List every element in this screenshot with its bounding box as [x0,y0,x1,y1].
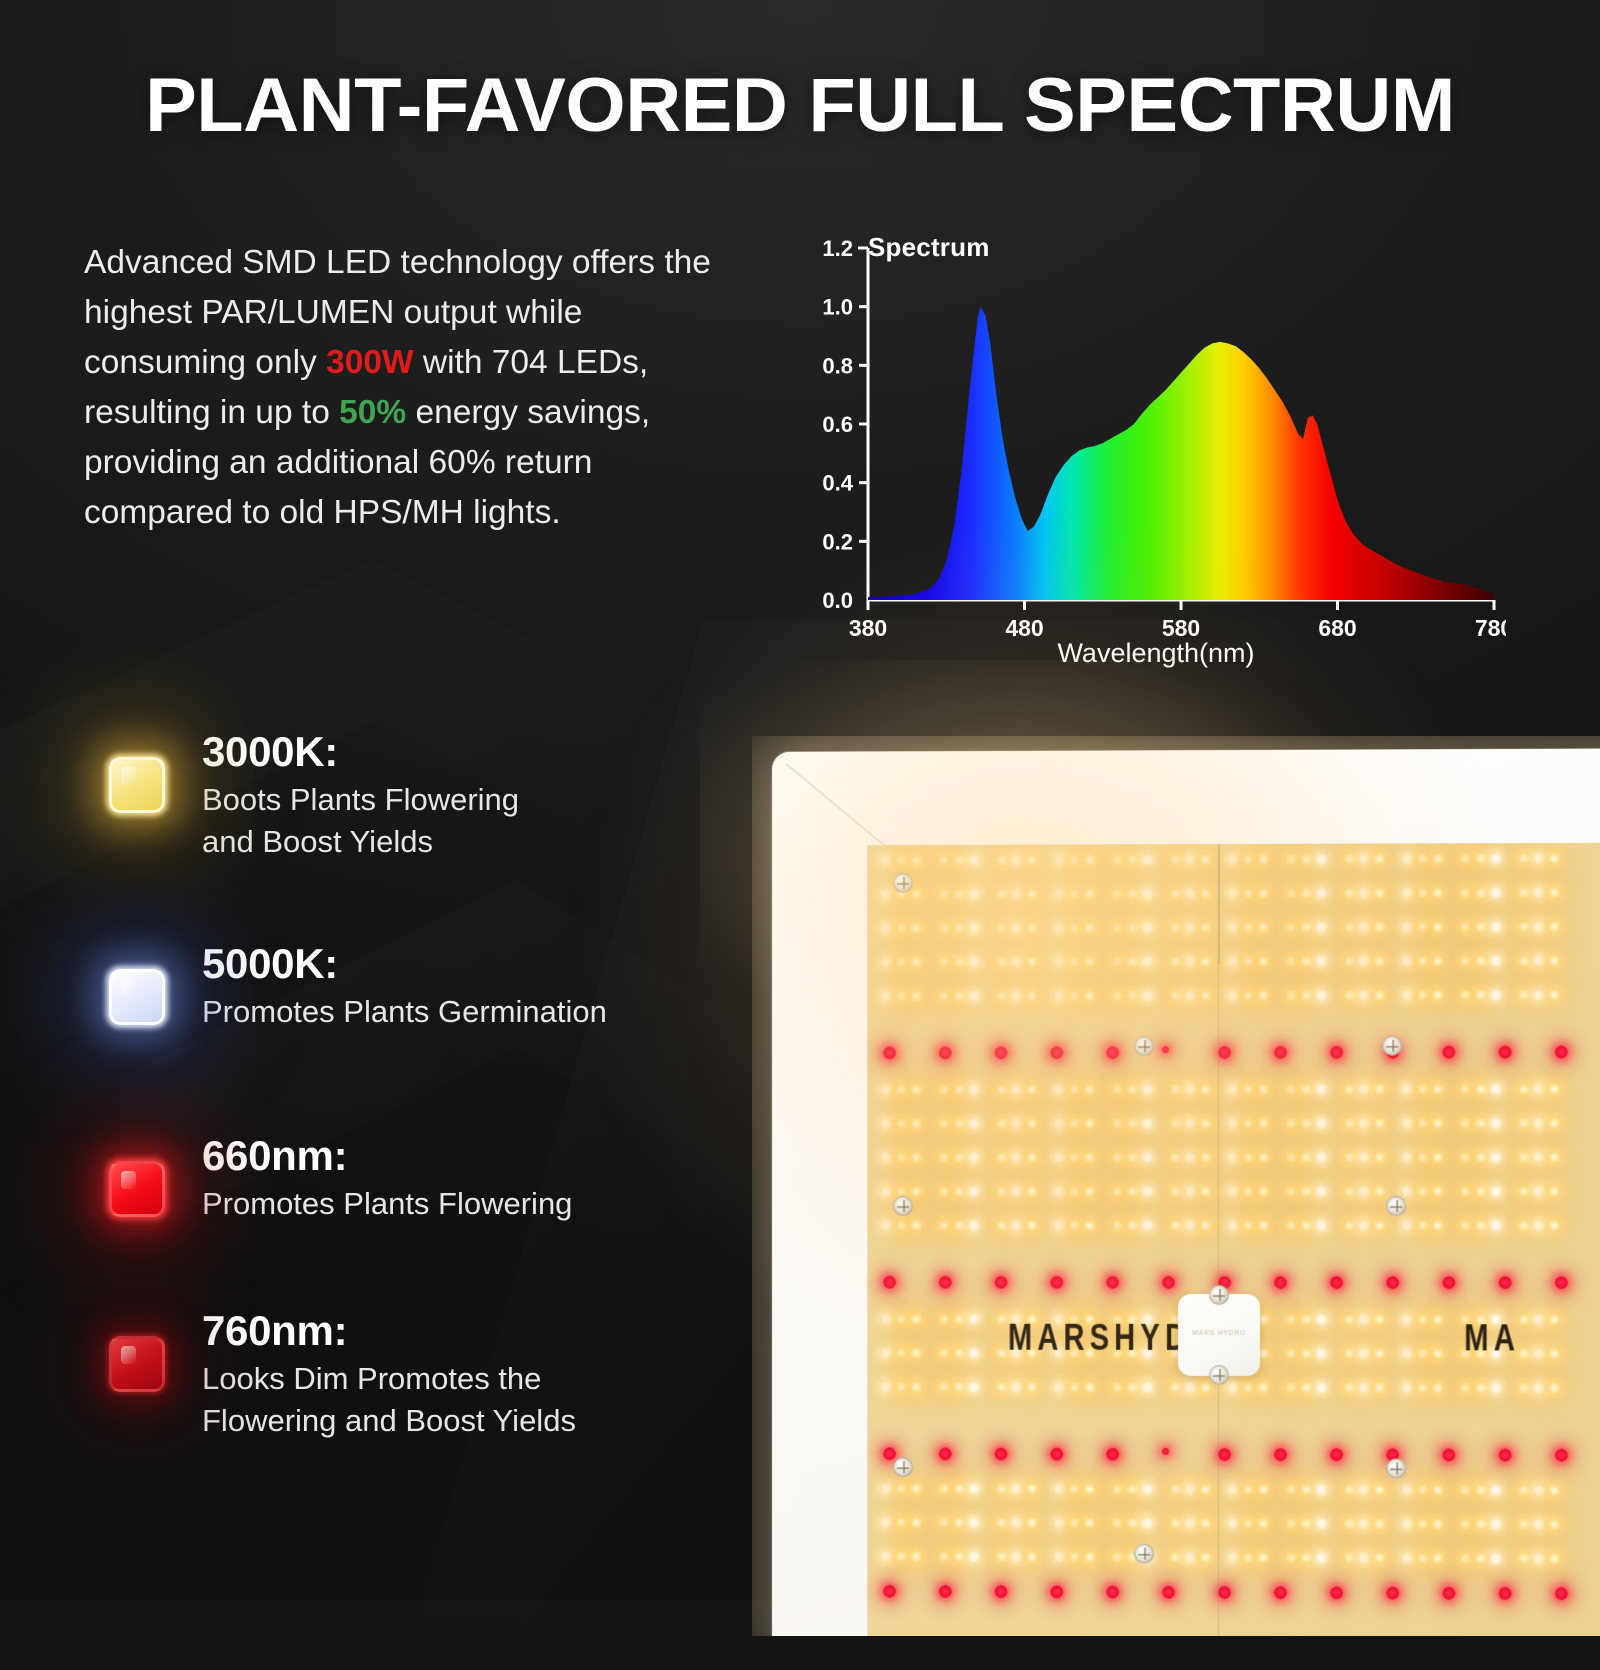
legend-desc-760nm-line2: Flowering and Boost Yields [202,1400,784,1442]
spectrum-area-path [868,307,1494,600]
screw-icon [1386,1196,1406,1216]
led-grow-light-panel: MARSHYDRO MA MARS HYDRO [752,736,1600,1636]
led-chip-3000k-wrap [102,750,172,820]
led-chip-760nm-wrap [102,1329,172,1399]
chart-canvas: 0.00.20.40.60.81.01.2380480580680780 [806,226,1506,636]
svg-text:1.2: 1.2 [822,236,853,261]
brand-logo-partial: MA [1464,1317,1520,1360]
page-title: PLANT-FAVORED FULL SPECTRUM [0,62,1600,149]
screw-icon [1386,1458,1406,1478]
svg-text:1.0: 1.0 [822,295,853,320]
svg-text:480: 480 [1005,615,1043,636]
led-chip-660nm-wrap [102,1154,172,1224]
screw-icon [893,873,913,893]
screw-icon [1209,1365,1229,1385]
legend-item-3000k: 3000K: Boots Plants Flowering and Boost … [84,724,784,936]
led-legend-list: 3000K: Boots Plants Flowering and Boost … [84,724,784,1503]
svg-text:380: 380 [849,615,887,636]
svg-text:580: 580 [1162,615,1200,636]
led-chip-icon-5000k [109,969,165,1025]
legend-desc-5000k-line1: Promotes Plants Germination [202,991,784,1033]
panel-driver-module: MARS HYDRO [1178,1294,1260,1376]
legend-desc-3000k-line1: Boots Plants Flowering [202,779,784,821]
led-chip-icon-660nm [109,1161,165,1217]
led-array [867,843,1600,846]
module-label: MARS HYDRO [1178,1330,1260,1337]
led-chip-5000k-wrap [102,962,172,1032]
legend-title-660nm: 660nm: [202,1134,784,1178]
screw-icon [893,1196,913,1216]
spectrum-chart: Spectrum [806,226,1506,666]
savings-highlight: 50% [339,394,406,431]
legend-item-660nm: 660nm: Promotes Plants Flowering [84,1128,784,1303]
svg-text:0.8: 0.8 [822,353,853,378]
power-highlight: 300W [326,344,414,381]
legend-title-5000k: 5000K: [202,942,784,986]
svg-text:680: 680 [1318,615,1356,636]
legend-item-760nm: 760nm: Looks Dim Promotes the Flowering … [84,1303,784,1503]
screw-icon [1134,1036,1154,1056]
legend-title-760nm: 760nm: [202,1309,784,1353]
legend-item-5000k: 5000K: Promotes Plants Germination [84,936,784,1128]
led-chip-icon-3000k [109,757,165,813]
svg-text:780: 780 [1475,615,1506,636]
chart-xaxis-label: Wavelength(nm) [806,638,1506,669]
description-paragraph: Advanced SMD LED technology offers the h… [84,238,744,538]
legend-title-3000k: 3000K: [202,730,784,774]
led-pcb-board: MARSHYDRO MA MARS HYDRO [867,843,1600,1636]
svg-text:0.2: 0.2 [822,529,853,554]
legend-desc-760nm-line1: Looks Dim Promotes the [202,1358,784,1400]
legend-desc-3000k-line2: and Boost Yields [202,821,784,863]
svg-text:0.0: 0.0 [822,588,853,613]
panel-frame: MARSHYDRO MA MARS HYDRO [772,748,1600,1636]
panel-wire [1218,844,1219,964]
svg-text:0.6: 0.6 [822,412,853,437]
screw-icon [893,1457,913,1477]
legend-desc-660nm-line1: Promotes Plants Flowering [202,1183,784,1225]
led-chip-icon-760nm [109,1336,165,1392]
screw-icon [1134,1544,1154,1564]
svg-text:0.4: 0.4 [822,471,853,496]
screw-icon [1382,1036,1402,1056]
screw-icon [1209,1285,1229,1305]
